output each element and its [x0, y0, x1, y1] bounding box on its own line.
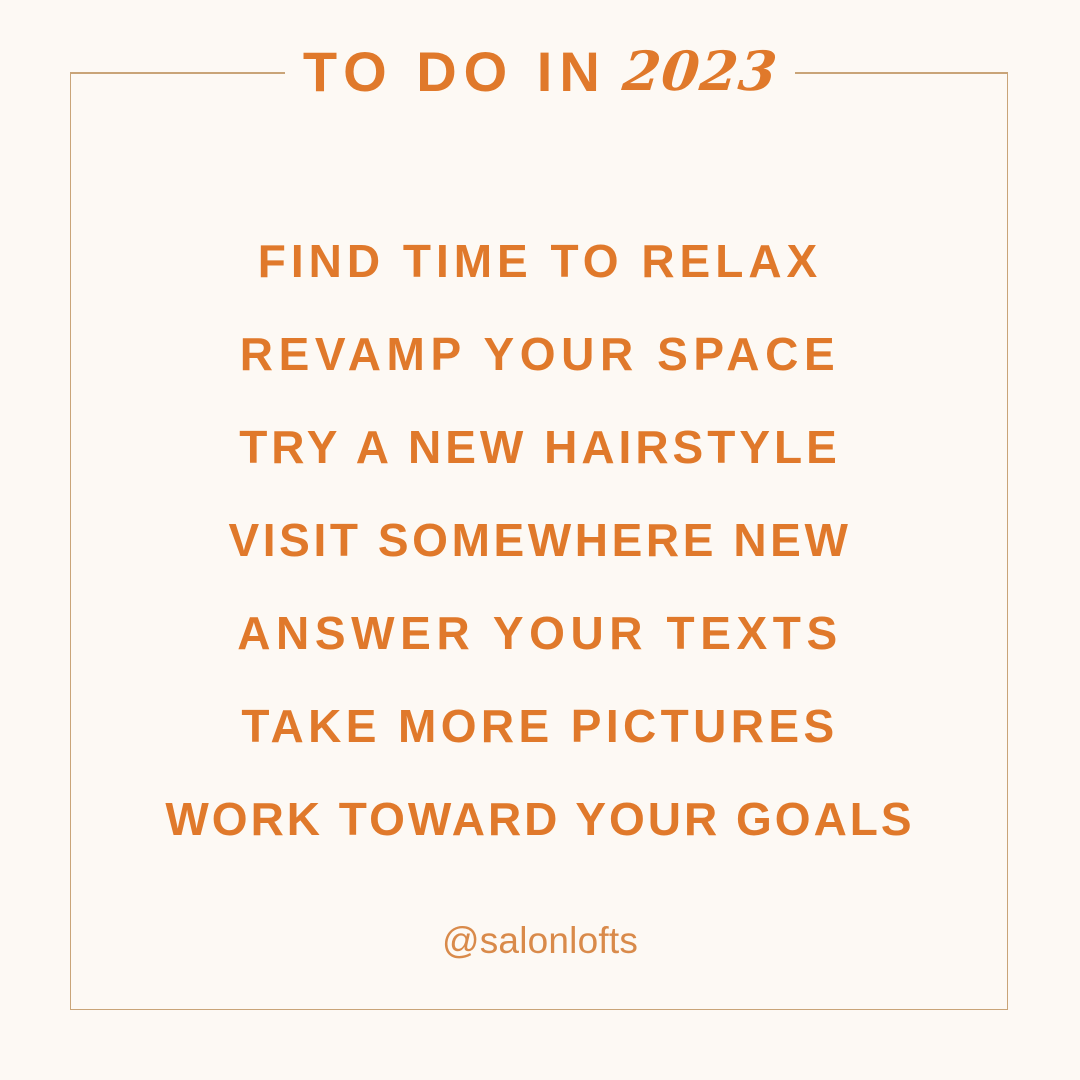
- list-item: TAKE MORE PICTURES: [0, 680, 1080, 773]
- list-item: REVAMP YOUR SPACE: [0, 308, 1080, 401]
- list-item: FIND TIME TO RELAX: [0, 215, 1080, 308]
- list-item: WORK TOWARD YOUR GOALS: [0, 773, 1080, 866]
- page-title-main: TO DO IN: [303, 44, 607, 100]
- list-item: VISIT SOMEWHERE NEW: [0, 494, 1080, 587]
- page-title-year: 2023: [620, 44, 780, 98]
- page-title: TO DO IN 2023: [0, 0, 1080, 146]
- social-handle: @salonlofts: [0, 920, 1080, 962]
- todo-list: FIND TIME TO RELAX REVAMP YOUR SPACE TRY…: [0, 215, 1080, 866]
- poster-canvas: TO DO IN 2023 FIND TIME TO RELAX REVAMP …: [0, 0, 1080, 1080]
- list-item: ANSWER YOUR TEXTS: [0, 587, 1080, 680]
- list-item: TRY A NEW HAIRSTYLE: [0, 401, 1080, 494]
